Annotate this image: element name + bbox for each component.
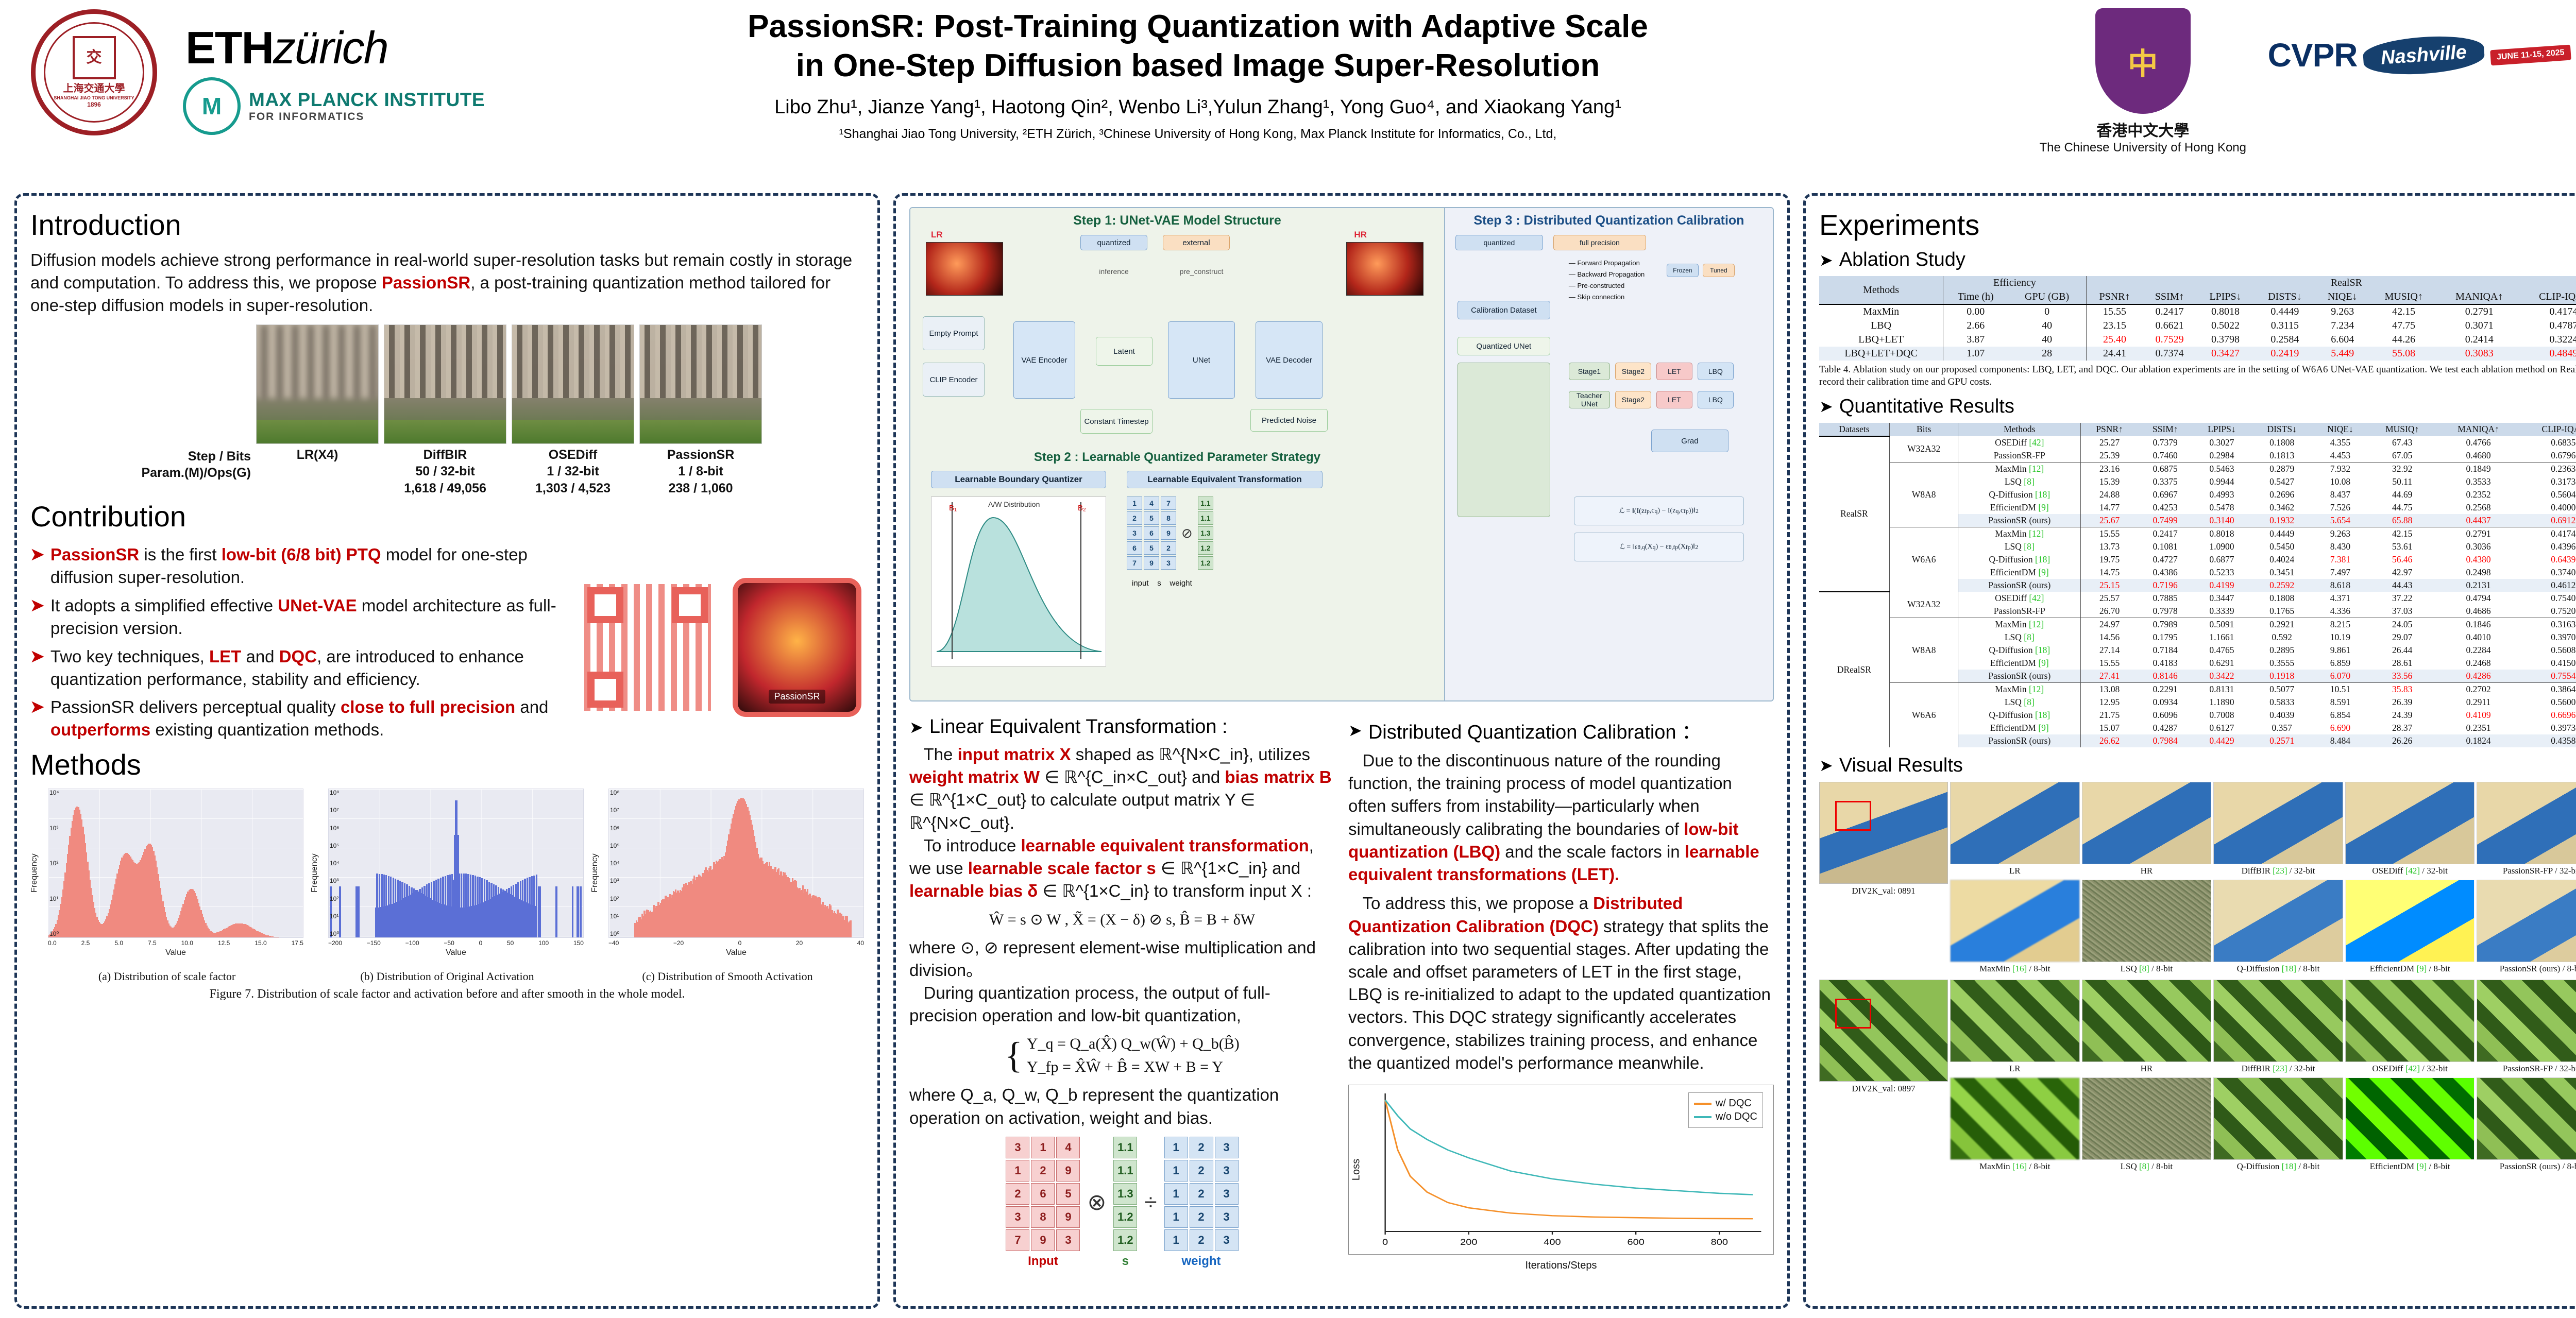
table-cell: 0.2696	[2251, 488, 2312, 501]
step3-grad-1: Stage2	[1615, 363, 1651, 380]
eth-italic: zürich	[273, 22, 388, 73]
let-p2g: ∈ ℝ^{1×C_in} to transform input X :	[1038, 881, 1312, 900]
qr-code[interactable]	[578, 578, 717, 717]
ablation-table: Methods Efficiency RealSR Time (h)GPU (G…	[1819, 276, 2576, 361]
table-cell: 0.4286	[2437, 670, 2520, 683]
eth-bold: ETH	[185, 22, 273, 73]
table-cell: 14.75	[2081, 566, 2139, 579]
table-cell: 15.55	[2086, 304, 2143, 319]
comparison-image	[2345, 880, 2475, 962]
chart-caption: (b) Distribution of Original Activation	[311, 970, 584, 983]
bits-label: W8A8	[1889, 618, 1958, 682]
table-cell: 26.62	[2081, 734, 2139, 747]
quant-col-header: SSIM↑	[2138, 423, 2192, 436]
table-cell: 26.26	[2368, 734, 2437, 747]
contribution-item: ➤It adopts a simplified effective UNet-V…	[30, 594, 563, 640]
pipeline-legend-item: — Pre-constructed	[1569, 280, 1645, 292]
visual-comparison-cell: PassionSR (ours) / 8-bit	[2477, 880, 2576, 975]
table-cell: 0.3533	[2437, 475, 2520, 488]
table-cell: 37.22	[2368, 592, 2437, 605]
brace-icon: {	[1005, 1041, 1023, 1071]
ablation-col-header: LPIPS↓	[2196, 290, 2255, 304]
pipeline-box-predicted-noise: Predicted Noise	[1250, 409, 1328, 432]
table-cell: 7.932	[2313, 462, 2368, 475]
table-cell: 0.4174	[2521, 304, 2576, 319]
table-cell: 0.3339	[2192, 605, 2251, 618]
table-cell: 0.4380	[2437, 553, 2520, 566]
legend-item: w/o DQC	[1694, 1111, 1757, 1123]
table-cell: 0.4437	[2437, 514, 2520, 527]
table-cell: 7.497	[2313, 566, 2368, 579]
chevron-right-icon: ➤	[1348, 721, 1362, 740]
ablation-group-efficiency: Efficiency	[1943, 276, 2087, 290]
chart-ylabel: Frequency	[310, 853, 319, 893]
page-title-line-2: in One-Step Diffusion based Image Super-…	[562, 46, 1834, 85]
table-cell: 14.56	[2081, 631, 2139, 644]
intro-image-cell: LR(X4)	[256, 324, 379, 497]
pipeline-box-constant-timestep: Constant Timestep	[1080, 409, 1153, 434]
ablation-group-realsr: RealSR	[2086, 276, 2576, 290]
methods-chart: Frequency10⁰10¹10²10³10⁴0.02.55.07.510.0…	[30, 789, 303, 983]
visual-results-grid: DIV2K_val: 0891LRHRDiffBIR [23] / 32-bit…	[1819, 782, 2576, 1173]
visual-comparison-cell: PassionSR-FP / 32-bit	[2477, 782, 2576, 878]
table-cell: 0.4449	[2251, 527, 2312, 540]
ablation-table-caption: Table 4. Ablation study on our proposed …	[1819, 364, 2576, 388]
table-cell: 0.00	[1943, 304, 2008, 319]
quant-col-header: Bits	[1889, 423, 1958, 436]
method-name: EfficientDM [9]	[1958, 566, 2081, 579]
let-paragraph-2: To introduce learnable equivalent transf…	[909, 834, 1335, 903]
table-cell: 0.1795	[2138, 631, 2192, 644]
method-name: Q-Diffusion [18]	[1958, 644, 2081, 657]
table-cell: 0.2571	[2251, 734, 2312, 747]
pipeline-box-unet: UNet	[1168, 321, 1235, 399]
visual-heading: Visual Results	[1839, 755, 1963, 777]
table-cell: 0.4024	[2251, 553, 2312, 566]
matrix-cell: 1	[1164, 1160, 1188, 1182]
table-cell: 0.4386	[2138, 566, 2192, 579]
svg-text:200: 200	[1460, 1237, 1477, 1246]
step2-matrix-illustration: 147 258 369 652 793 ⊘ 1.1 1.1 1.3 1.2	[1127, 497, 1213, 570]
table-row: LBQ+LET+DQC1.072824.410.73740.34270.2419…	[1819, 347, 2576, 361]
table-cell: 65.88	[2368, 514, 2437, 527]
comparison-image-label: DiffBIR [23] / 32-bit	[2213, 1062, 2343, 1075]
table-cell: 1.07	[1943, 347, 2008, 361]
quant-col-header: NIQE↓	[2313, 423, 2368, 436]
comparison-image-label: MaxMin [16] / 8-bit	[1950, 1160, 2080, 1173]
pipeline-box-empty-prompt: Empty Prompt	[923, 316, 985, 350]
sjtu-name-cn: 上海交通大學	[63, 82, 125, 95]
comparison-image	[1950, 980, 2080, 1062]
let-bias-term: learnable bias δ	[909, 881, 1038, 900]
table-cell: 0.1918	[2251, 670, 2312, 683]
table-row: LBQ2.664023.150.66210.50220.31157.23447.…	[1819, 319, 2576, 333]
middle-column: Step 1: UNet-VAE Model Structure LR HR q…	[893, 193, 1790, 1309]
histogram-plot: 10⁰10¹10²10³10⁴10⁵10⁶10⁷10⁸	[608, 789, 864, 938]
comparison-image	[2082, 782, 2212, 864]
pipeline-box-vae-decoder: VAE Decoder	[1256, 321, 1323, 399]
let-eq2b: Y_fp = X̂Ŵ + B̂ = XW + B = Y	[1027, 1055, 1240, 1079]
loss-xlabel: Iterations/Steps	[1349, 1260, 1773, 1272]
affiliation-list: ¹Shanghai Jiao Tong University, ²ETH Zür…	[562, 127, 1834, 142]
method-name: MaxMin [12]	[1958, 618, 2081, 631]
table-cell: 0.1765	[2251, 605, 2312, 618]
let-p2e: ∈ ℝ^{1×C_in} and	[1156, 859, 1300, 878]
table-cell: 0.3173	[2520, 475, 2576, 488]
table-cell: 0.3798	[2196, 333, 2255, 347]
matrix-cell: 3	[1056, 1229, 1080, 1251]
visual-comparison-cell: LR	[1950, 980, 2080, 1075]
method-name: OSEDiff [42]	[1958, 436, 2081, 449]
quant-col-header: MUSIQ↑	[2368, 423, 2437, 436]
table-cell: 0.4429	[2192, 734, 2251, 747]
table-cell: 12.95	[2081, 696, 2139, 709]
label-weight: weight	[1170, 579, 1192, 588]
dqc-block: ➤Distributed Quantization Calibration ： …	[1348, 709, 1774, 1269]
table-cell: 8.430	[2313, 540, 2368, 553]
table-row: MaxMin0.00015.550.24170.80180.44499.2634…	[1819, 304, 2576, 319]
comparison-image	[2082, 1077, 2212, 1160]
divide-icon: ÷	[1144, 1190, 1157, 1216]
table-cell: 0.1813	[2251, 449, 2312, 463]
matrix-cell: 2	[1190, 1229, 1213, 1251]
matrix-cell: 1	[1164, 1206, 1188, 1228]
phone-preview-image: PassionSR	[733, 578, 861, 717]
matrix-illustration: 314129265389793 Input ⊗ 1.11.11.31.21.2 …	[909, 1137, 1335, 1269]
visual-comparison-cell: Q-Diffusion [18] / 8-bit	[2213, 880, 2343, 975]
comparison-image-label: HR	[2082, 1062, 2212, 1075]
table-cell: 32.92	[2368, 462, 2437, 475]
table-cell: 0.4787	[2521, 319, 2576, 333]
distribution-curve-icon: B₁ B₂	[931, 497, 1107, 667]
comparison-image-label: EfficientDM [9] / 8-bit	[2345, 962, 2475, 975]
intro-caption-name: PassionSR	[639, 447, 762, 464]
intro-image-passionsr	[639, 324, 762, 444]
step1-title: Step 1: UNet-VAE Model Structure	[910, 208, 1444, 230]
comparison-image-label: LR	[1950, 864, 2080, 878]
table-cell: 1.1890	[2192, 696, 2251, 709]
table-cell: 13.73	[2081, 540, 2139, 553]
legend-item: w/ DQC	[1694, 1098, 1757, 1109]
table-cell: 0.4010	[2437, 631, 2520, 644]
table-cell: 0.5450	[2251, 540, 2312, 553]
table-row: W8A8MaxMin [12]24.970.79890.50910.29218.…	[1819, 618, 2576, 631]
comparison-image-label: PassionSR (ours) / 8-bit	[2477, 962, 2576, 975]
table-cell: 0.4686	[2437, 605, 2520, 618]
crop-region-box	[1835, 801, 1871, 831]
method-name: Q-Diffusion [18]	[1958, 553, 2081, 566]
svg-text:B₂: B₂	[1078, 504, 1086, 512]
table-cell: 42.15	[2370, 304, 2438, 319]
step3-frozen-badge: Frozen	[1667, 264, 1699, 277]
reference-image	[1819, 980, 1948, 1082]
visual-reference-image-cell: DIV2K_val: 0891	[1819, 782, 1948, 975]
table-cell: 0.8146	[2138, 670, 2192, 683]
matrix-cell: 1	[1164, 1183, 1188, 1205]
contribution-text: Two key techniques, LET and DQC, are int…	[50, 645, 563, 691]
methods-chart: Frequency10⁰10¹10²10³10⁴10⁵10⁶10⁷10⁸−200…	[311, 789, 584, 983]
table-cell: 0.6835	[2520, 436, 2576, 449]
comparison-image	[2345, 980, 2475, 1062]
visual-comparison-cell: DiffBIR [23] / 32-bit	[2213, 782, 2343, 878]
comparison-image	[2082, 880, 2212, 962]
matrix-cell: 3	[1215, 1160, 1239, 1182]
table-cell: 0.6127	[2192, 722, 2251, 734]
pipeline-legend-item: — Forward Propagation	[1569, 258, 1645, 269]
comparison-image	[2477, 980, 2576, 1062]
table-cell: 0.4766	[2437, 436, 2520, 449]
matrix-cell: 6	[1031, 1183, 1055, 1205]
matrix-cell: 2	[1190, 1160, 1213, 1182]
dataset-name: DRealSR	[1819, 592, 1889, 747]
step3-box-teacher-unet: Grad	[1651, 430, 1728, 452]
let-input-matrix: input matrix X	[958, 745, 1071, 764]
svg-text:B₁: B₁	[949, 504, 957, 512]
comparison-image	[2213, 880, 2343, 962]
step3-box-full-precision: full precision	[1553, 235, 1646, 250]
ablation-col-header: GPU (GB)	[2008, 290, 2086, 304]
chart-caption: (c) Distribution of Smooth Activation	[591, 970, 864, 983]
table-cell: 0.2131	[2437, 579, 2520, 592]
table-cell: 0.8018	[2196, 304, 2255, 319]
pipeline-diagram: Step 1: UNet-VAE Model Structure LR HR q…	[909, 207, 1774, 701]
quantitative-table: DatasetsBitsMethodsPSNR↑SSIM↑LPIPS↓DISTS…	[1819, 423, 2576, 747]
table-cell: 56.46	[2368, 553, 2437, 566]
intro-caption-name: OSEDiff	[512, 447, 634, 464]
table-cell: 0.8018	[2192, 527, 2251, 540]
dqc-p1b: and the scale factors in	[1500, 842, 1685, 861]
phone-label: PassionSR	[769, 690, 825, 704]
sjtu-year: 1896	[87, 101, 101, 109]
table-cell: 0.6877	[2192, 553, 2251, 566]
visual-comparison-cell: PassionSR-FP / 32-bit	[2477, 980, 2576, 1075]
quant-col-header: Methods	[1958, 423, 2081, 436]
visual-comparison-cell: EfficientDM [9] / 8-bit	[2345, 1077, 2475, 1173]
visual-comparison-cell: PassionSR (ours) / 8-bit	[2477, 1077, 2576, 1173]
table-cell: 0.3224	[2521, 333, 2576, 347]
table-cell: 0.7374	[2143, 347, 2196, 361]
table-cell: 27.41	[2081, 670, 2139, 683]
table-cell: 0.3447	[2192, 592, 2251, 605]
visual-comparison-cell: MaxMin [16] / 8-bit	[1950, 1077, 2080, 1173]
max-planck-logo: M MAX PLANCK INSTITUTE FOR INFORMATICS	[183, 77, 485, 135]
table-cell: 0.0934	[2138, 696, 2192, 709]
let-bias-matrix: bias matrix B	[1225, 767, 1331, 786]
table-cell: 0.5233	[2192, 566, 2251, 579]
table-cell: 0.4680	[2437, 449, 2520, 463]
step3-let-2: LET	[1656, 391, 1692, 408]
ablation-col-header: MUSIQ↑	[2370, 290, 2438, 304]
svg-text:600: 600	[1628, 1237, 1645, 1246]
matrix-cell: 1.1	[1113, 1137, 1137, 1158]
ablation-col-header: CLIP-IQA↑	[2521, 290, 2576, 304]
method-name: PassionSR-FP	[1958, 449, 2081, 463]
let-eq2a: Y_q = Q_a(X̂) Q_w(Ŵ) + Q_b(B̂)	[1027, 1032, 1240, 1055]
table-cell: 19.75	[2081, 553, 2139, 566]
table-cell: 8.437	[2313, 488, 2368, 501]
intro-caption-params: 1,618 / 49,056	[384, 480, 506, 497]
matrix-cell: 4	[1056, 1137, 1080, 1158]
table-cell: 0.6291	[2192, 657, 2251, 670]
right-column: Experiments ➤Ablation Study Methods Effi…	[1803, 193, 2576, 1309]
table-cell: 24.88	[2081, 488, 2139, 501]
step3-lbq-2: LBQ	[1698, 391, 1734, 408]
matrix-cell: 2	[1190, 1137, 1213, 1158]
let-paragraph-3: where ⊙, ⊘ represent element-wise multip…	[909, 936, 1335, 982]
introduction-paragraph: Diffusion models achieve strong performa…	[30, 249, 864, 317]
let-p1a: The	[924, 745, 958, 764]
ablation-col-methods: Methods	[1819, 276, 1943, 304]
table-cell: 0.7460	[2138, 449, 2192, 463]
let-paragraph-1: The input matrix X shaped as ℝ^{N×C_in},…	[909, 743, 1335, 834]
table-cell: 0.7184	[2138, 644, 2192, 657]
comparison-image	[2082, 980, 2212, 1062]
pipeline-legend-item: — Backward Propagation	[1569, 269, 1645, 280]
table-cell: 0.3375	[2138, 475, 2192, 488]
matrix-cell: 9	[1056, 1206, 1080, 1228]
table-cell: 0.4253	[2138, 501, 2192, 514]
chart-ylabel: Frequency	[590, 853, 600, 893]
table-cell: 7.234	[2315, 319, 2370, 333]
contribution-text: PassionSR delivers perceptual quality cl…	[50, 696, 563, 741]
table-cell: 0.1081	[2138, 540, 2192, 553]
table-cell: 4.371	[2313, 592, 2368, 605]
table-cell: LBQ+LET	[1819, 333, 1943, 347]
let-p1b: shaped as ℝ^{N×C_in}, utilizes	[1071, 745, 1310, 764]
section-heading-experiments: Experiments	[1819, 208, 2576, 242]
left-column: Introduction Diffusion models achieve st…	[14, 193, 880, 1309]
table-cell: 0.7196	[2138, 579, 2192, 592]
table-cell: 0.1846	[2437, 618, 2520, 631]
comparison-image-label: OSEDiff [42] / 32-bit	[2345, 1062, 2475, 1075]
table-cell: 0.5427	[2251, 475, 2312, 488]
table-cell: 0.2352	[2437, 488, 2520, 501]
pipeline-label-inference: inference	[1080, 265, 1147, 278]
bits-label: W32A32	[1889, 436, 1958, 463]
pipeline-hr-image	[1346, 242, 1423, 296]
comparison-image	[2345, 1077, 2475, 1160]
table-cell: 0.4183	[2138, 657, 2192, 670]
table-cell: 0.6696	[2520, 709, 2576, 722]
dataset-name: RealSR	[1819, 436, 1889, 592]
table-cell: 27.14	[2081, 644, 2139, 657]
matrix-cell: 9	[1031, 1229, 1055, 1251]
quant-col-header: PSNR↑	[2081, 423, 2139, 436]
table-row: W6A6MaxMin [12]15.550.24170.80180.44499.…	[1819, 527, 2576, 540]
visual-comparison-cell: MaxMin [16] / 8-bit	[1950, 880, 2080, 975]
visual-comparison-cell: Q-Diffusion [18] / 8-bit	[2213, 1077, 2343, 1173]
svg-text:800: 800	[1711, 1237, 1728, 1246]
table-cell: 0.2584	[2255, 333, 2315, 347]
table-cell: 44.43	[2368, 579, 2437, 592]
step3-loss-eq-2: ℒ = ‖εθ,q(Xq) − εθ,fp(Xfp)‖2	[1574, 533, 1744, 561]
visual-comparison-cell: EfficientDM [9] / 8-bit	[2345, 880, 2475, 975]
poster-header: 交 上海交通大學 SHANGHAI JIAO TONG UNIVERSITY 1…	[0, 0, 2576, 193]
loss-chart-legend: w/ DQCw/o DQC	[1688, 1092, 1763, 1128]
table-cell: 8.484	[2313, 734, 2368, 747]
table-cell: 0.2568	[2437, 501, 2520, 514]
table-cell: MaxMin	[1819, 304, 1943, 319]
quant-col-header: LPIPS↓	[2192, 423, 2251, 436]
intro-caption-bits: 1 / 8-bit	[639, 463, 762, 480]
table-cell: 50.11	[2368, 475, 2437, 488]
pipeline-box-clip-encoder: CLIP Encoder	[923, 363, 985, 397]
table-cell: 0.3163	[2520, 618, 2576, 631]
method-name: EfficientDM [9]	[1958, 501, 2081, 514]
comparison-image	[2477, 880, 2576, 962]
matrix-cell: 5	[1056, 1183, 1080, 1205]
sjtu-seal-icon: 交	[73, 36, 116, 79]
table-cell: 0.4287	[2138, 722, 2192, 734]
table-cell: 0.1808	[2251, 436, 2312, 449]
table-cell: 0.4849	[2521, 347, 2576, 361]
table-cell: 40	[2008, 319, 2086, 333]
table-cell: 0.3864	[2520, 682, 2576, 696]
chevron-right-icon: ➤	[909, 717, 923, 737]
visual-comparison-grid: LRHRDiffBIR [23] / 32-bitOSEDiff [42] / …	[1950, 980, 2576, 1173]
let-paragraph-4: During quantization process, the output …	[909, 982, 1335, 1027]
table-cell: 4.336	[2313, 605, 2368, 618]
table-cell: 0.2895	[2251, 644, 2312, 657]
table-cell: 0.6439	[2520, 553, 2576, 566]
sjtu-name-en: SHANGHAI JIAO TONG UNIVERSITY	[54, 95, 134, 101]
comparison-image	[1950, 782, 2080, 864]
comparison-image	[2477, 782, 2576, 864]
table-cell: 0.6621	[2143, 319, 2196, 333]
table-cell: 0.3071	[2438, 319, 2521, 333]
table-cell: 25.39	[2081, 449, 2139, 463]
loss-ylabel: Loss	[1351, 1159, 1363, 1180]
table-cell: 8.215	[2313, 618, 2368, 631]
method-name: PassionSR-FP	[1958, 605, 2081, 618]
table-cell: 0.7885	[2138, 592, 2192, 605]
matrix-cell: 1	[1164, 1137, 1188, 1158]
table-cell: 55.08	[2370, 347, 2438, 361]
cuhk-crest-icon: 中	[2095, 8, 2191, 114]
intro-image-osediff	[512, 324, 634, 444]
multiply-icon: ⊗	[1087, 1189, 1106, 1216]
chart-xlabel: Value	[608, 948, 864, 957]
pipeline-step3-panel: Step 3 : Distributed Quantization Calibr…	[1445, 208, 1773, 700]
table-cell: 0.3462	[2251, 501, 2312, 514]
pipeline-label-preconstruct: pre_construct	[1163, 265, 1240, 278]
matrix-label-s: s	[1113, 1254, 1137, 1269]
comparison-image	[2213, 782, 2343, 864]
dqc-paragraph-1: Due to the discontinuous nature of the r…	[1348, 749, 1774, 886]
table-cell: 1.0900	[2192, 540, 2251, 553]
let-paragraph-5: where Q_a, Q_w, Q_b represent the quanti…	[909, 1084, 1335, 1129]
table-cell: 0.2921	[2251, 618, 2312, 631]
intro-row-label-params: Param.(M)/Ops(G)	[132, 465, 251, 482]
table-cell: 37.03	[2368, 605, 2437, 618]
table-cell: 25.57	[2081, 592, 2139, 605]
pipeline-box-vae-encoder: VAE Encoder	[1013, 321, 1075, 399]
table-cell: 0.3140	[2192, 514, 2251, 527]
table-cell: 0.3973	[2520, 722, 2576, 734]
table-row: RealSRW32A32OSEDiff [42]25.270.73790.302…	[1819, 436, 2576, 449]
quant-col-header: CLIP-IQA↑	[2520, 423, 2576, 436]
method-name: EfficientDM [9]	[1958, 722, 2081, 734]
cvpr-city: Nashville	[2362, 32, 2485, 77]
aw-distribution-plot: B₁ B₂ A/W Distribution	[931, 497, 1106, 666]
table-cell: 5.449	[2315, 347, 2370, 361]
table-cell: 0.5463	[2192, 462, 2251, 475]
dqc-heading: Distributed Quantization Calibration ：	[1368, 716, 1701, 744]
poster-root: 交 上海交通大學 SHANGHAI JIAO TONG UNIVERSITY 1…	[0, 0, 2576, 1318]
quant-col-header: Datasets	[1819, 423, 1889, 436]
table-row: LBQ+LET3.874025.400.75290.37980.25846.60…	[1819, 333, 2576, 347]
pipeline-box-latent: Latent	[1096, 337, 1153, 366]
